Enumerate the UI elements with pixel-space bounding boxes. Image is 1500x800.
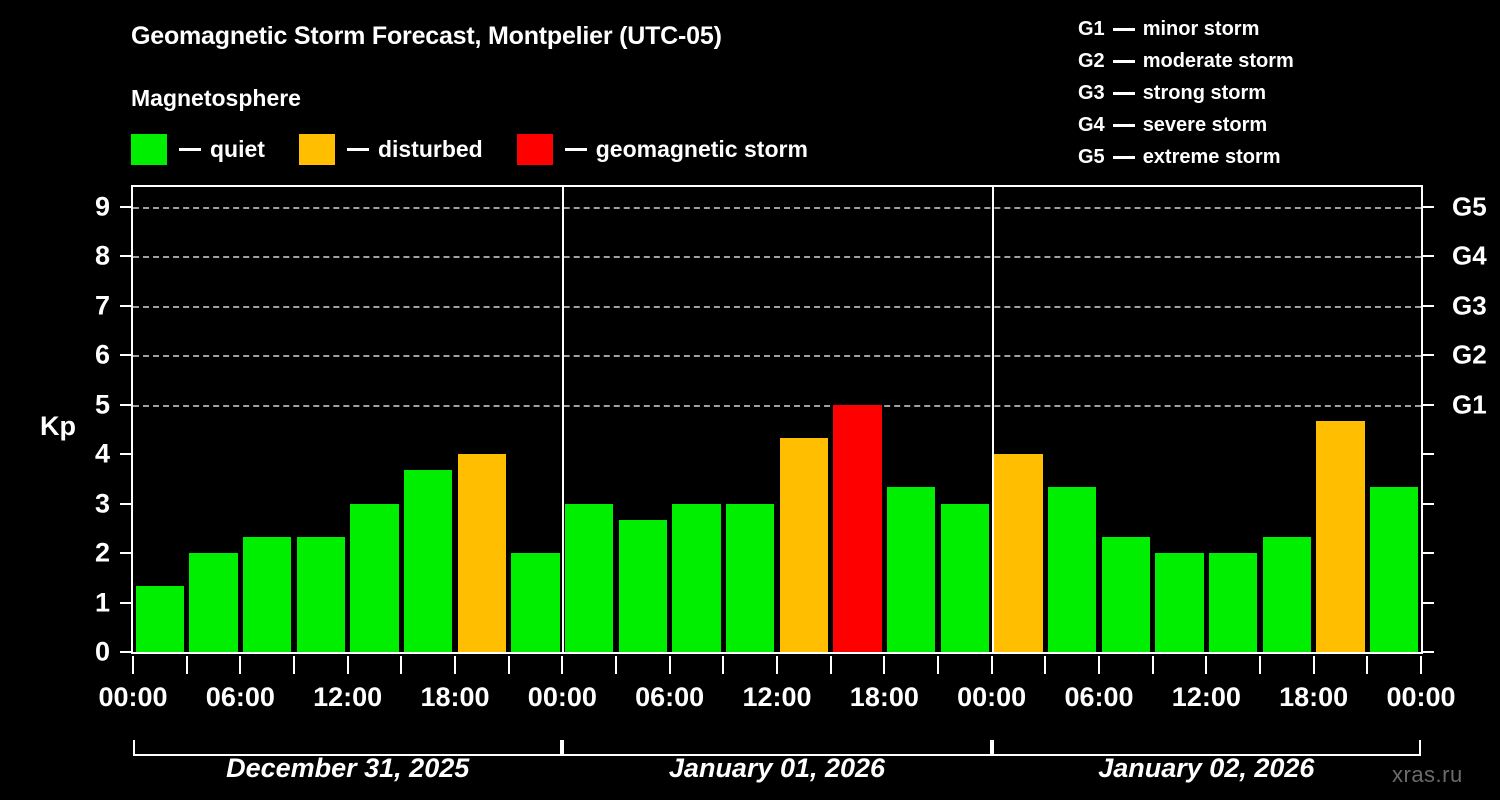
- g-scale-text: severe storm: [1143, 109, 1268, 141]
- x-tick-mark: [615, 656, 617, 674]
- x-tick-mark: [883, 656, 885, 674]
- g-tick-label: G5: [1452, 191, 1487, 222]
- g-scale-text: minor storm: [1143, 13, 1260, 45]
- x-tick-mark: [1098, 656, 1100, 674]
- g-scale-row: G4severe storm: [1078, 109, 1408, 141]
- x-tick-label: 00:00: [528, 682, 597, 713]
- bar-series: [133, 187, 1421, 652]
- g-scale-text: strong storm: [1143, 77, 1266, 109]
- y-right-tick-mark: [1423, 404, 1434, 406]
- y-tick-label: 7: [70, 290, 110, 321]
- g-scale-dash-icon: [1113, 124, 1135, 127]
- geomagnetic-forecast-chart: Geomagnetic Storm Forecast, Montpelier (…: [0, 0, 1500, 800]
- x-tick-label: 00:00: [1386, 682, 1455, 713]
- x-tick-mark: [1366, 656, 1368, 674]
- y-tick-label: 0: [70, 637, 110, 668]
- x-tick-mark: [1205, 656, 1207, 674]
- legend-dash-icon: [565, 148, 587, 151]
- x-tick-label: 12:00: [742, 682, 811, 713]
- g-scale-text: moderate storm: [1143, 45, 1294, 77]
- g-scale-text: extreme storm: [1143, 141, 1281, 173]
- g-scale-row: G5extreme storm: [1078, 141, 1408, 173]
- g-tick-label: G4: [1452, 241, 1487, 272]
- day-caption: December 31, 2025: [226, 753, 469, 784]
- legend-dash-icon: [347, 148, 369, 151]
- y-tick-label: 3: [70, 488, 110, 519]
- kp-bar[interactable]: [350, 504, 399, 652]
- y-tick-mark: [120, 602, 131, 604]
- x-tick-mark: [1313, 656, 1315, 674]
- legend-item: geomagnetic storm: [517, 134, 808, 165]
- y-tick-mark: [120, 404, 131, 406]
- g-scale-code: G1: [1078, 13, 1105, 45]
- legend-swatch-quiet: [131, 134, 167, 165]
- x-tick-mark: [722, 656, 724, 674]
- g-scale-dash-icon: [1113, 92, 1135, 95]
- x-tick-label: 18:00: [1279, 682, 1348, 713]
- g-scale-row: G3strong storm: [1078, 77, 1408, 109]
- x-tick-mark: [293, 656, 295, 674]
- y-tick-label: 4: [70, 439, 110, 470]
- y-tick-label: 2: [70, 538, 110, 569]
- kp-bar[interactable]: [1048, 487, 1097, 652]
- g-tick-label: G3: [1452, 290, 1487, 321]
- x-tick-mark: [830, 656, 832, 674]
- x-tick-mark: [1420, 656, 1422, 674]
- x-tick-label: 06:00: [635, 682, 704, 713]
- x-tick-mark: [239, 656, 241, 674]
- y-tick-label: 6: [70, 340, 110, 371]
- x-tick-mark: [186, 656, 188, 674]
- y-tick-mark: [120, 255, 131, 257]
- y-right-tick-mark: [1423, 552, 1434, 554]
- legend-item: quiet: [131, 134, 265, 165]
- x-tick-label: 06:00: [1064, 682, 1133, 713]
- x-tick-mark: [132, 656, 134, 674]
- y-tick-mark: [120, 354, 131, 356]
- y-tick-mark: [120, 305, 131, 307]
- y-right-tick-mark: [1423, 206, 1434, 208]
- g-scale-code: G3: [1078, 77, 1105, 109]
- y-right-tick-mark: [1423, 651, 1434, 653]
- g-scale-dash-icon: [1113, 60, 1135, 63]
- x-tick-mark: [561, 656, 563, 674]
- kp-bar[interactable]: [1316, 421, 1365, 652]
- g-scale-row: G2moderate storm: [1078, 45, 1408, 77]
- legend-dash-icon: [179, 148, 201, 151]
- kp-bar[interactable]: [1370, 487, 1419, 652]
- y-tick-label: 9: [70, 191, 110, 222]
- kp-bar[interactable]: [833, 405, 882, 652]
- g-scale-dash-icon: [1113, 28, 1135, 31]
- y-right-tick-mark: [1423, 503, 1434, 505]
- kp-bar[interactable]: [619, 520, 668, 652]
- x-tick-mark: [776, 656, 778, 674]
- g-scale-legend: G1minor stormG2moderate stormG3strong st…: [1078, 13, 1408, 173]
- legend-label: disturbed: [378, 136, 483, 163]
- kp-bar[interactable]: [994, 454, 1043, 652]
- y-tick-label: 1: [70, 587, 110, 618]
- legend-swatch-storm: [517, 134, 553, 165]
- x-tick-label: 18:00: [420, 682, 489, 713]
- g-scale-row: G1minor storm: [1078, 13, 1408, 45]
- legend-label: geomagnetic storm: [596, 136, 808, 163]
- x-tick-label: 18:00: [850, 682, 919, 713]
- x-tick-mark: [454, 656, 456, 674]
- color-legend: quietdisturbedgeomagnetic storm: [131, 133, 842, 165]
- kp-bar[interactable]: [1155, 553, 1204, 652]
- y-tick-label: 5: [70, 389, 110, 420]
- kp-bar[interactable]: [726, 504, 775, 652]
- kp-bar[interactable]: [243, 537, 292, 652]
- g-tick-label: G2: [1452, 340, 1487, 371]
- legend-item: disturbed: [299, 134, 483, 165]
- kp-bar[interactable]: [458, 454, 507, 652]
- g-scale-code: G5: [1078, 141, 1105, 173]
- y-right-tick-mark: [1423, 354, 1434, 356]
- kp-bar[interactable]: [1263, 537, 1312, 652]
- kp-bar[interactable]: [780, 438, 829, 652]
- y-tick-mark: [120, 503, 131, 505]
- x-tick-mark: [669, 656, 671, 674]
- g-scale-code: G4: [1078, 109, 1105, 141]
- kp-bar[interactable]: [1102, 537, 1151, 652]
- y-tick-mark: [120, 206, 131, 208]
- kp-bar[interactable]: [511, 553, 560, 652]
- y-right-tick-mark: [1423, 305, 1434, 307]
- legend-label: quiet: [210, 136, 265, 163]
- page-title: Geomagnetic Storm Forecast, Montpelier (…: [131, 22, 722, 51]
- y-right-tick-mark: [1423, 255, 1434, 257]
- g-scale-code: G2: [1078, 45, 1105, 77]
- kp-bar[interactable]: [136, 586, 185, 652]
- kp-bar[interactable]: [404, 470, 453, 652]
- x-tick-mark: [400, 656, 402, 674]
- x-tick-mark: [1152, 656, 1154, 674]
- x-tick-mark: [347, 656, 349, 674]
- kp-bar[interactable]: [189, 553, 238, 652]
- x-tick-label: 00:00: [957, 682, 1026, 713]
- legend-swatch-disturbed: [299, 134, 335, 165]
- x-tick-mark: [991, 656, 993, 674]
- x-tick-mark: [937, 656, 939, 674]
- y-tick-mark: [120, 552, 131, 554]
- kp-bar[interactable]: [887, 487, 936, 652]
- day-caption: January 01, 2026: [669, 753, 885, 784]
- day-caption: January 02, 2026: [1098, 753, 1314, 784]
- x-tick-label: 06:00: [206, 682, 275, 713]
- g-scale-dash-icon: [1113, 156, 1135, 159]
- kp-bar[interactable]: [565, 504, 614, 652]
- kp-bar[interactable]: [297, 537, 346, 652]
- y-tick-mark: [120, 453, 131, 455]
- kp-bar[interactable]: [941, 504, 990, 652]
- plot-area: [131, 185, 1423, 654]
- x-tick-mark: [1259, 656, 1261, 674]
- y-tick-label: 8: [70, 241, 110, 272]
- x-tick-mark: [508, 656, 510, 674]
- y-tick-mark: [120, 651, 131, 653]
- x-tick-label: 00:00: [98, 682, 167, 713]
- x-tick-label: 12:00: [313, 682, 382, 713]
- watermark: xras.ru: [1392, 762, 1463, 788]
- g-tick-label: G1: [1452, 389, 1487, 420]
- x-tick-label: 12:00: [1172, 682, 1241, 713]
- y-right-tick-mark: [1423, 602, 1434, 604]
- y-right-tick-mark: [1423, 453, 1434, 455]
- kp-bar[interactable]: [672, 504, 721, 652]
- x-tick-mark: [1044, 656, 1046, 674]
- kp-bar[interactable]: [1209, 553, 1258, 652]
- chart-subtitle: Magnetosphere: [131, 85, 301, 112]
